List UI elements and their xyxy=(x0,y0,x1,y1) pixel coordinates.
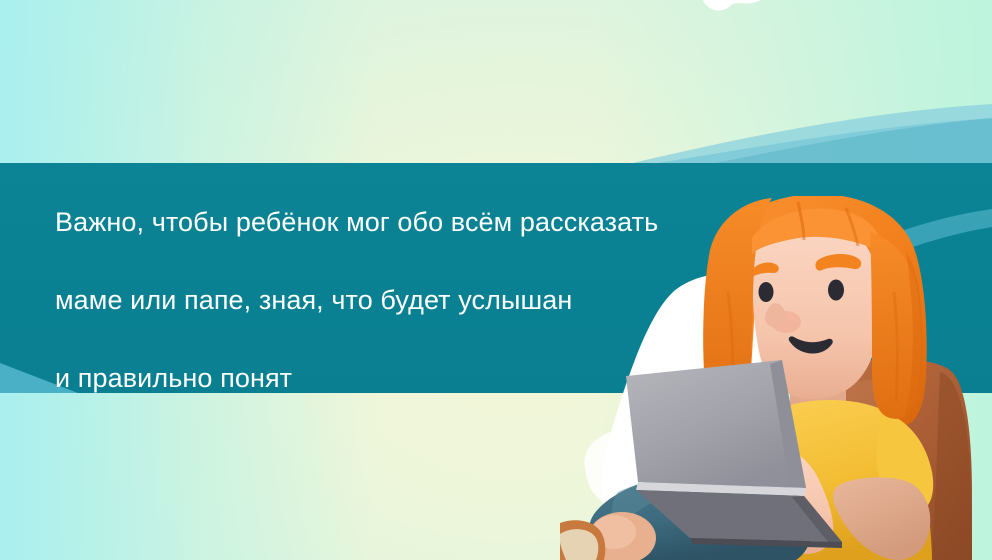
eye-left-icon xyxy=(759,282,774,302)
eye-right-icon xyxy=(828,280,844,301)
page-title: за поддержкой к родителям при возникнове… xyxy=(48,0,948,64)
illustration-girl-with-laptop xyxy=(560,196,992,560)
headline-line-2: при возникновении психологических угроз xyxy=(48,20,885,64)
girl-with-laptop-graphic xyxy=(560,196,992,560)
headline-line-1: за поддержкой к родителям xyxy=(48,0,885,20)
poster-canvas: за поддержкой к родителям при возникнове… xyxy=(0,0,992,560)
